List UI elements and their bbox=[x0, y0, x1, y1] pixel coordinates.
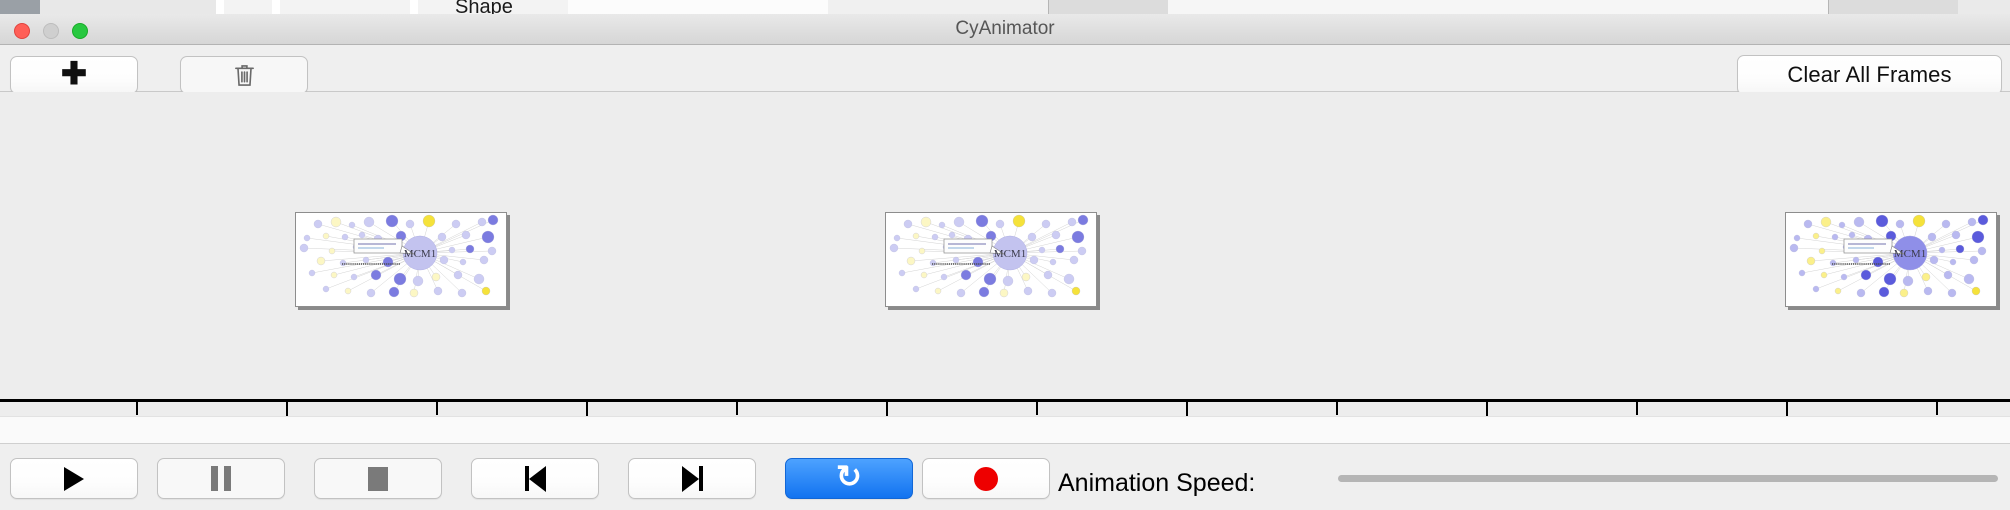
play-button[interactable] bbox=[10, 458, 138, 499]
timeline-panel[interactable]: MCM1 MCM1 MCM1 2131415161718 Seconds bbox=[0, 92, 2010, 416]
cyanimator-window: Shape CyAnimator ✚ Clear All Frames bbox=[0, 0, 2010, 510]
axis-tick-minor bbox=[1936, 402, 1938, 415]
skip-forward-icon bbox=[682, 466, 703, 492]
svg-text:MCM1: MCM1 bbox=[994, 248, 1026, 260]
window-title: CyAnimator bbox=[0, 14, 2010, 44]
clear-all-frames-label: Clear All Frames bbox=[1787, 62, 1951, 88]
pause-button[interactable] bbox=[157, 458, 285, 499]
axis-tick-minor bbox=[1636, 402, 1638, 415]
plus-icon: ✚ bbox=[61, 58, 87, 89]
timeline-axis bbox=[0, 399, 2010, 402]
svg-text:MCM1: MCM1 bbox=[1894, 248, 1926, 260]
horizontal-scrollbar-track[interactable] bbox=[0, 416, 2010, 444]
frame-thumbnail[interactable]: MCM1 bbox=[295, 212, 507, 307]
axis-tick-minor bbox=[736, 402, 738, 415]
axis-tick-minor bbox=[1036, 402, 1038, 415]
axis-tick-minor bbox=[1336, 402, 1338, 415]
previous-frame-button[interactable] bbox=[471, 458, 599, 499]
clear-all-frames-button[interactable]: Clear All Frames bbox=[1737, 55, 2002, 95]
animation-speed-label: Animation Speed: bbox=[1058, 469, 1255, 498]
record-icon bbox=[974, 467, 998, 491]
delete-frame-button[interactable] bbox=[180, 56, 308, 94]
skip-back-icon bbox=[525, 466, 546, 492]
add-frame-button[interactable]: ✚ bbox=[10, 56, 138, 94]
svg-text:MCM1: MCM1 bbox=[404, 248, 436, 260]
animation-speed-slider[interactable] bbox=[1338, 475, 1998, 482]
record-button[interactable] bbox=[922, 458, 1050, 499]
title-bar: CyAnimator bbox=[0, 14, 2010, 45]
background-window-strip: Shape bbox=[0, 0, 2010, 14]
stop-button[interactable] bbox=[314, 458, 442, 499]
trash-icon bbox=[233, 62, 256, 88]
next-frame-button[interactable] bbox=[628, 458, 756, 499]
loop-button[interactable]: ↻ bbox=[785, 458, 913, 499]
frame-thumbnail[interactable]: MCM1 bbox=[1785, 212, 1997, 307]
play-icon bbox=[64, 467, 84, 491]
pause-icon bbox=[211, 466, 231, 491]
loop-icon: ↻ bbox=[836, 465, 862, 492]
frame-thumbnail[interactable]: MCM1 bbox=[885, 212, 1097, 307]
stop-icon bbox=[368, 467, 388, 491]
axis-tick-minor bbox=[136, 402, 138, 415]
axis-tick-minor bbox=[436, 402, 438, 415]
